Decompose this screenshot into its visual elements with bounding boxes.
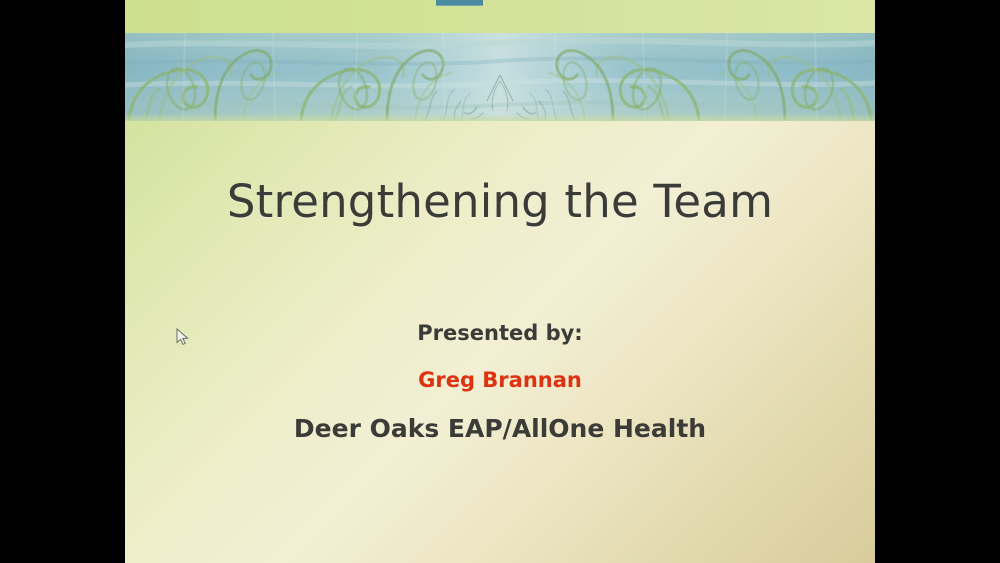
presenter-name: Greg Brannan: [125, 365, 875, 395]
presented-by-label: Presented by:: [125, 318, 875, 348]
slide-subtitle-block: Presented by: Greg Brannan Deer Oaks EAP…: [125, 318, 875, 445]
presentation-slide: Strengthening the Team Presented by: Gre…: [125, 0, 875, 563]
slide-top-green-strip: [125, 0, 875, 34]
clipped-ui-fragment: [436, 0, 483, 6]
video-player-frame: Strengthening the Team Presented by: Gre…: [0, 0, 1000, 563]
slide-title: Strengthening the Team: [125, 175, 875, 228]
watercolor-vine-graphic: [125, 33, 875, 121]
mouse-cursor-arrow-icon: [176, 328, 190, 346]
decorative-watercolor-band: [125, 33, 875, 121]
organization-name: Deer Oaks EAP/AllOne Health: [125, 413, 875, 445]
